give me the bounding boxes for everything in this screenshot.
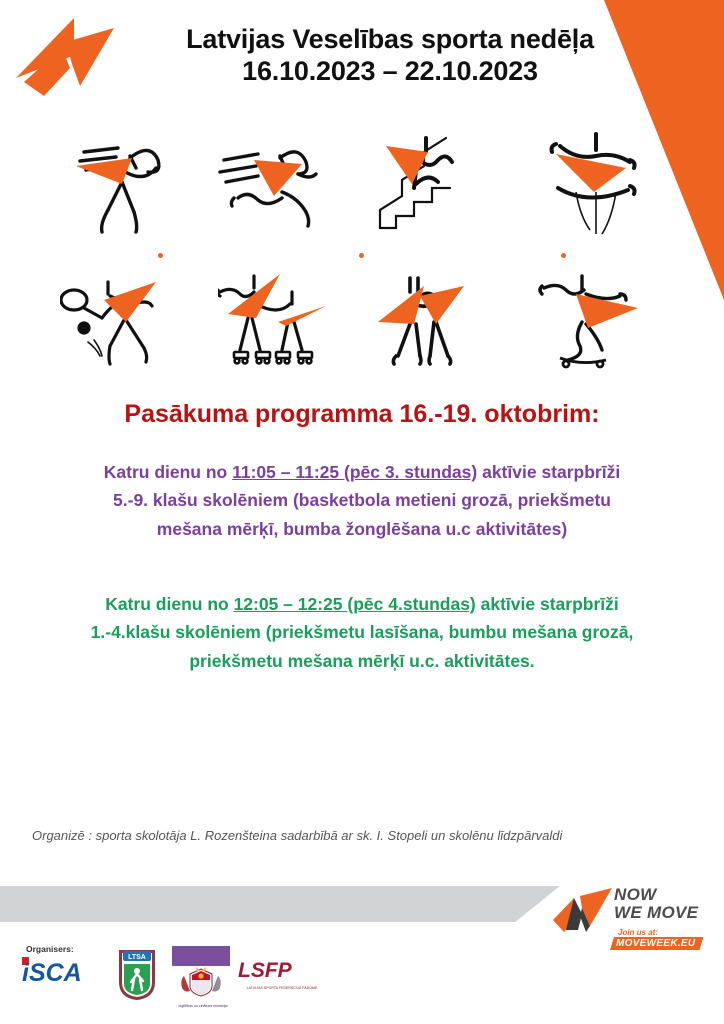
pictogram-area xyxy=(0,122,724,370)
line1-pre: Katru dienu no xyxy=(105,594,233,614)
nordic-walking-figure-icon xyxy=(60,130,190,248)
organizer-note: Organizē : sporta skolotāja L. Rozenštei… xyxy=(32,828,692,843)
program-block-purple-line3: mešana mērķī, bumba žonglēšana u.c aktiv… xyxy=(28,515,696,543)
moveweek-url-badge[interactable]: MOVEWEEK.EU xyxy=(610,937,703,950)
ministry-purple-bar xyxy=(172,946,230,966)
lsfp-wordmark-icon: LSFP xyxy=(236,958,328,980)
nowwemove-word2: WE MOVE xyxy=(614,904,698,922)
latvia-coat-of-arms-icon xyxy=(172,966,230,998)
header-title-line2: 16.10.2023 – 22.10.2023 xyxy=(120,56,660,88)
nowwemove-wordmark: NOW WE MOVE xyxy=(614,886,698,923)
stair-climbing-figure-icon xyxy=(376,130,506,248)
join-us-label: Join us at: xyxy=(618,928,658,937)
header-title-line1: Latvijas Veselības sporta nedēļa xyxy=(120,24,660,56)
program-block-green-line3: priekšmetu mešana mērķī u.c. aktivitātes… xyxy=(22,647,702,675)
isca-logo: iSCA xyxy=(22,955,118,985)
tennis-figure-icon xyxy=(60,270,190,370)
line1-time-underlined: 11:05 – 11:25 (pēc 3. stundas) xyxy=(232,462,477,482)
line1-post: aktīvie starpbrīži xyxy=(476,594,619,614)
separator-dot xyxy=(158,253,163,258)
pictogram-row-2 xyxy=(60,270,664,370)
program-block-purple-line1: Katru dienu no 11:05 – 11:25 (pēc 3. stu… xyxy=(28,458,696,486)
ministry-of-education-and-science-logo: Izglītības un zinātnes ministrija xyxy=(172,946,234,1016)
poster-header: Latvijas Veselības sporta nedēļa 16.10.2… xyxy=(0,18,724,108)
nowwemove-arrow-icon xyxy=(552,886,614,934)
running-figure-icon xyxy=(218,130,348,248)
footer-gray-band xyxy=(0,886,560,922)
program-block-purple: Katru dienu no 11:05 – 11:25 (pēc 3. stu… xyxy=(28,458,696,543)
program-block-purple-line2: 5.-9. klašu skolēniem (basketbola metien… xyxy=(28,486,696,514)
ministry-caption: Izglītības un zinātnes ministrija xyxy=(172,1004,234,1009)
pictogram-separator-dots xyxy=(60,253,664,258)
ltsa-logo: LTSA xyxy=(116,948,158,1002)
nowwemove-arrow-icon xyxy=(22,24,118,102)
organisers-label: Organisers: xyxy=(26,944,74,954)
skiing-figure-icon xyxy=(534,130,664,248)
header-title: Latvijas Veselības sporta nedēļa 16.10.2… xyxy=(120,24,660,88)
svg-text:LTSA: LTSA xyxy=(128,954,146,961)
separator-dot xyxy=(561,253,566,258)
svg-text:LSFP: LSFP xyxy=(238,959,293,980)
line1-time-underlined: 12:05 – 12:25 (pēc 4.stundas) xyxy=(234,594,476,614)
svg-text:iSCA: iSCA xyxy=(22,959,82,985)
program-title: Pasākuma programma 16.-19. oktobrim: xyxy=(0,400,724,429)
program-block-green-line1: Katru dienu no 12:05 – 12:25 (pēc 4.stun… xyxy=(22,590,702,618)
program-block-green: Katru dienu no 12:05 – 12:25 (pēc 4.stun… xyxy=(22,590,702,675)
separator-dot xyxy=(359,253,364,258)
program-block-green-line2: 1.-4.klašu skolēniem (priekšmetu lasīšan… xyxy=(22,618,702,646)
skateboarding-figure-icon xyxy=(534,270,664,370)
pictogram-row-1 xyxy=(60,130,664,248)
line1-pre: Katru dienu no xyxy=(104,462,232,482)
line1-post: aktīvie starpbrīži xyxy=(477,462,620,482)
lsfp-logo: LSFP LATVIJAS SPORTA FEDERĀCIJU PADOME xyxy=(236,958,328,992)
nowwemove-logo: NOW WE MOVE Join us at: MOVEWEEK.EU xyxy=(552,884,724,950)
poster-root: Latvijas Veselības sporta nedēļa 16.10.2… xyxy=(0,0,724,1024)
lsfp-caption: LATVIJAS SPORTA FEDERĀCIJU PADOME xyxy=(236,986,328,990)
roller-skating-figures-icon xyxy=(218,270,348,370)
dancing-figures-icon xyxy=(376,270,506,370)
nowwemove-word1: NOW xyxy=(614,886,698,904)
